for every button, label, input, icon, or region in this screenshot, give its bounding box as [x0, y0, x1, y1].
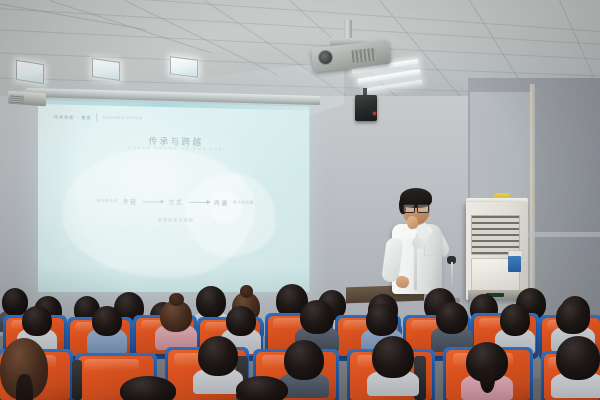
slide-header: 传承创新 · 教育 ACADEMIC FORUM [54, 112, 143, 122]
flow-node-2: 方式 [169, 198, 184, 207]
air-conditioner-vent-grill [471, 215, 520, 255]
ceiling-grid-line-h-0 [0, 0, 600, 32]
audience-head [120, 376, 176, 400]
projector-vent [351, 48, 376, 63]
flow-node-1: 外延 [123, 197, 138, 206]
audience-head [436, 302, 468, 334]
recessed-light-1 [16, 60, 44, 84]
slide-header-english: ACADEMIC FORUM [103, 115, 143, 120]
audience-head [198, 336, 238, 376]
ceiling-grid-line-h-1 [0, 8, 600, 45]
glasses-icon [403, 204, 429, 211]
audience-head [92, 306, 122, 336]
audience-head [226, 306, 256, 336]
energy-efficiency-label [508, 256, 521, 272]
audience-head [196, 286, 226, 318]
glasses-lens-left [403, 204, 415, 213]
audience-head [556, 300, 590, 334]
audience-head [366, 304, 398, 336]
audience-head [284, 340, 324, 380]
flow-arrow-2 [188, 202, 209, 203]
lecture-hall-photo: 传承创新 · 教育 ACADEMIC FORUM 传承与跨越 CHUAN CHE… [0, 0, 600, 400]
ceiling-grid-line-v-2 [125, 0, 278, 75]
recessed-light-2 [92, 58, 120, 81]
presenter-shirt-pocket [424, 246, 436, 256]
wall-speaker-left-grill [10, 95, 24, 104]
projection-screen: 传承创新 · 教育 ACADEMIC FORUM 传承与跨越 CHUAN CHE… [38, 100, 309, 292]
screen-lower-shading [38, 266, 309, 292]
audience-head [160, 300, 192, 332]
flow-right-label: 现代的历程 [233, 200, 254, 205]
seat-armrest [72, 360, 82, 400]
glasses-lens-right [417, 204, 429, 213]
audience-head [22, 306, 52, 336]
flow-left-label: 现代的未来 [97, 199, 119, 204]
flow-arrow-1 [143, 201, 164, 202]
speaker-power-led-icon [373, 112, 376, 115]
audience-head [236, 376, 288, 400]
flow-node-3: 内涵 [214, 198, 228, 207]
audience-head [300, 300, 334, 334]
audience-head [556, 336, 600, 380]
seat-highlight [84, 359, 139, 371]
audience-head [0, 338, 48, 400]
wall-speaker-right [355, 95, 377, 121]
slide-header-divider [97, 113, 98, 121]
audience-head [466, 342, 508, 382]
audience-head [372, 336, 414, 378]
audience-head [500, 304, 530, 336]
recessed-light-3 [170, 56, 198, 77]
ceiling-grid-line-v-1 [50, 0, 212, 53]
slide-header-mark: 传承创新 · 教育 [54, 114, 92, 120]
